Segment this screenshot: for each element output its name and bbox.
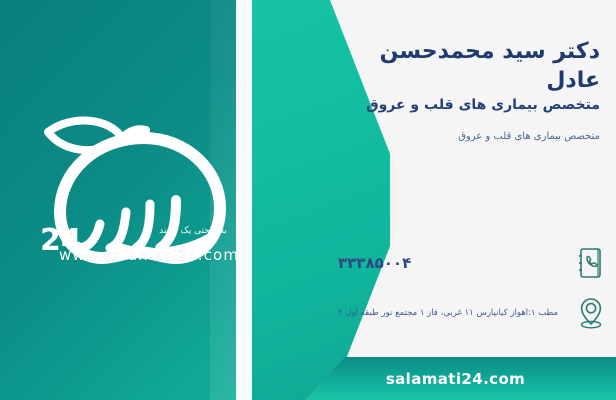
doctor-specialty-subtitle: متخصص بیماری های قلب و عروق: [338, 130, 600, 144]
phone-number: ۳۳۳۸۵۰۰۴: [338, 254, 564, 272]
doctor-profile-card: 24 به راحتی یک لبخند www.salamati24.com …: [0, 0, 616, 400]
clinic-address: مطب ۱:اهواز کیانپارس ۱۱ غربی، فاز ۱ مجتم…: [338, 307, 564, 320]
contact-row-phone[interactable]: ۳۳۳۸۵۰۰۴: [338, 244, 608, 282]
doctor-name: دکتر سید محمدحسن عادل: [338, 38, 600, 95]
footer-bar: salamati24.com: [305, 357, 616, 400]
location-pin-icon: [574, 294, 608, 332]
doctor-specialty: متخصص بیماری های قلب و عروق: [338, 96, 600, 116]
logo-slogan: به راحتی یک لبخند: [128, 226, 258, 236]
footer-website[interactable]: salamati24.com: [386, 370, 525, 388]
logo-script-stroke-3: [110, 212, 126, 248]
logo-website-url[interactable]: www.salamati24.com: [44, 246, 254, 264]
logo-script-stroke-1: [160, 200, 176, 248]
phone-book-icon: [574, 244, 608, 282]
contact-row-address[interactable]: مطب ۱:اهواز کیانپارس ۱۱ غربی، فاز ۱ مجتم…: [338, 294, 608, 332]
apple-leaf-icon: [48, 121, 122, 151]
info-panel: دکتر سید محمدحسن عادل متخصص بیماری های ق…: [330, 0, 616, 400]
contact-list: ۳۳۳۸۵۰۰۴ مطب ۱:اهواز کیانپارس ۱۱ غربی، ف…: [338, 244, 608, 344]
